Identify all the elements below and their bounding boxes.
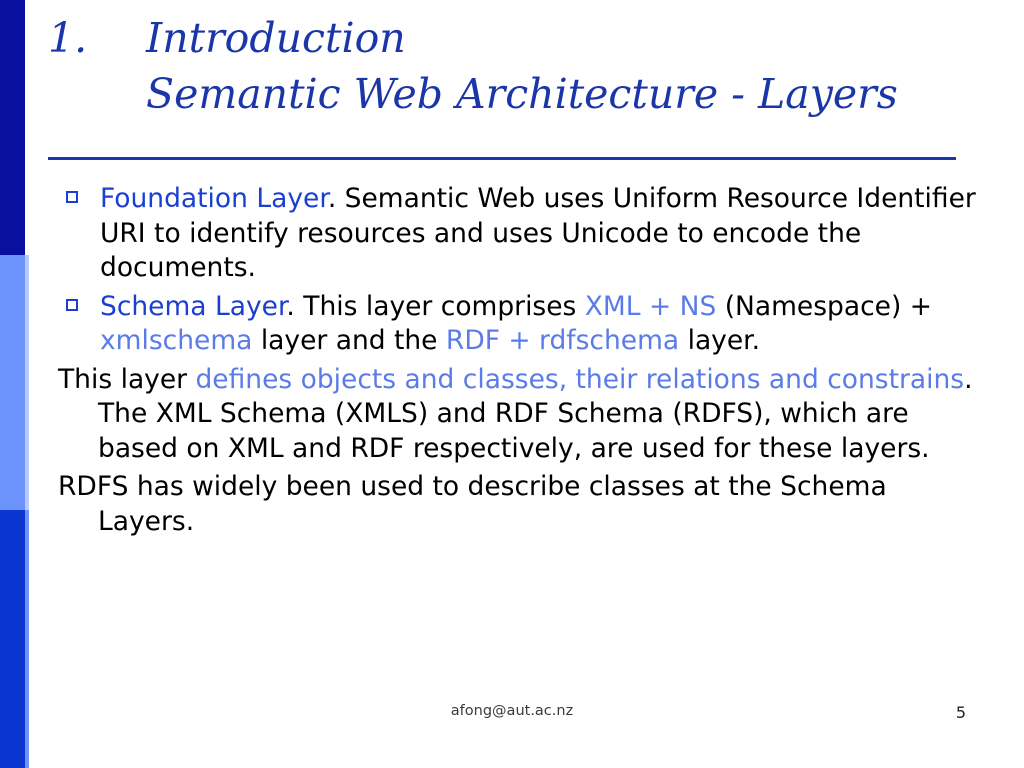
- sidebar-segment-top: [0, 0, 25, 255]
- text-run-lightblue: xmlschema: [100, 325, 252, 356]
- left-decoration-sidebar: [0, 0, 29, 768]
- title-divider-rule: [48, 157, 956, 160]
- slide-body-content: Foundation Layer. Semantic Web uses Unif…: [58, 182, 978, 543]
- text-run-blue: Foundation Layer: [100, 183, 328, 214]
- text-run-black: (Namespace) +: [716, 291, 932, 322]
- square-bullet-icon: [66, 299, 78, 311]
- text-run-black: This layer: [58, 364, 195, 395]
- text-run-blue: Schema Layer: [100, 291, 286, 322]
- text-run-lightblue: defines objects and classes, their relat…: [195, 364, 964, 395]
- footer-page-number: 5: [956, 703, 966, 722]
- paragraph-text: Foundation Layer. Semantic Web uses Unif…: [100, 182, 978, 286]
- sidebar-segment-middle-edge: [25, 255, 29, 510]
- text-run-black: layer and the: [252, 325, 446, 356]
- text-run-black: RDFS has widely been used to describe cl…: [58, 471, 887, 537]
- sidebar-segment-bottom-edge: [25, 510, 29, 768]
- plain-paragraph: This layer defines objects and classes, …: [58, 363, 978, 467]
- slide-title-subheading: Semantic Web Architecture - Layers: [146, 74, 958, 126]
- footer-email: afong@aut.ac.nz: [0, 703, 1024, 719]
- paragraph-text: RDFS has widely been used to describe cl…: [58, 470, 978, 539]
- slide-title-number: 1.: [48, 18, 146, 59]
- text-run-black: . This layer comprises: [286, 291, 584, 322]
- slide-title-heading: Introduction: [146, 14, 406, 62]
- plain-paragraph: RDFS has widely been used to describe cl…: [58, 470, 978, 539]
- text-run-black: layer.: [679, 325, 760, 356]
- slide-title-line-1: 1.Introduction: [48, 18, 958, 74]
- sidebar-segment-bottom: [0, 510, 25, 768]
- sidebar-segment-middle: [0, 255, 25, 510]
- text-run-lightblue: RDF + rdfschema: [446, 325, 679, 356]
- paragraph-text: Schema Layer. This layer comprises XML +…: [100, 290, 978, 359]
- text-run-lightblue: XML + NS: [585, 291, 716, 322]
- bullet-paragraph: Foundation Layer. Semantic Web uses Unif…: [58, 182, 978, 286]
- slide-title-block: 1.Introduction Semantic Web Architecture…: [48, 18, 958, 126]
- bullet-paragraph: Schema Layer. This layer comprises XML +…: [58, 290, 978, 359]
- sidebar-segment-top-edge: [25, 0, 29, 255]
- paragraph-text: This layer defines objects and classes, …: [58, 363, 978, 467]
- square-bullet-icon: [66, 191, 78, 203]
